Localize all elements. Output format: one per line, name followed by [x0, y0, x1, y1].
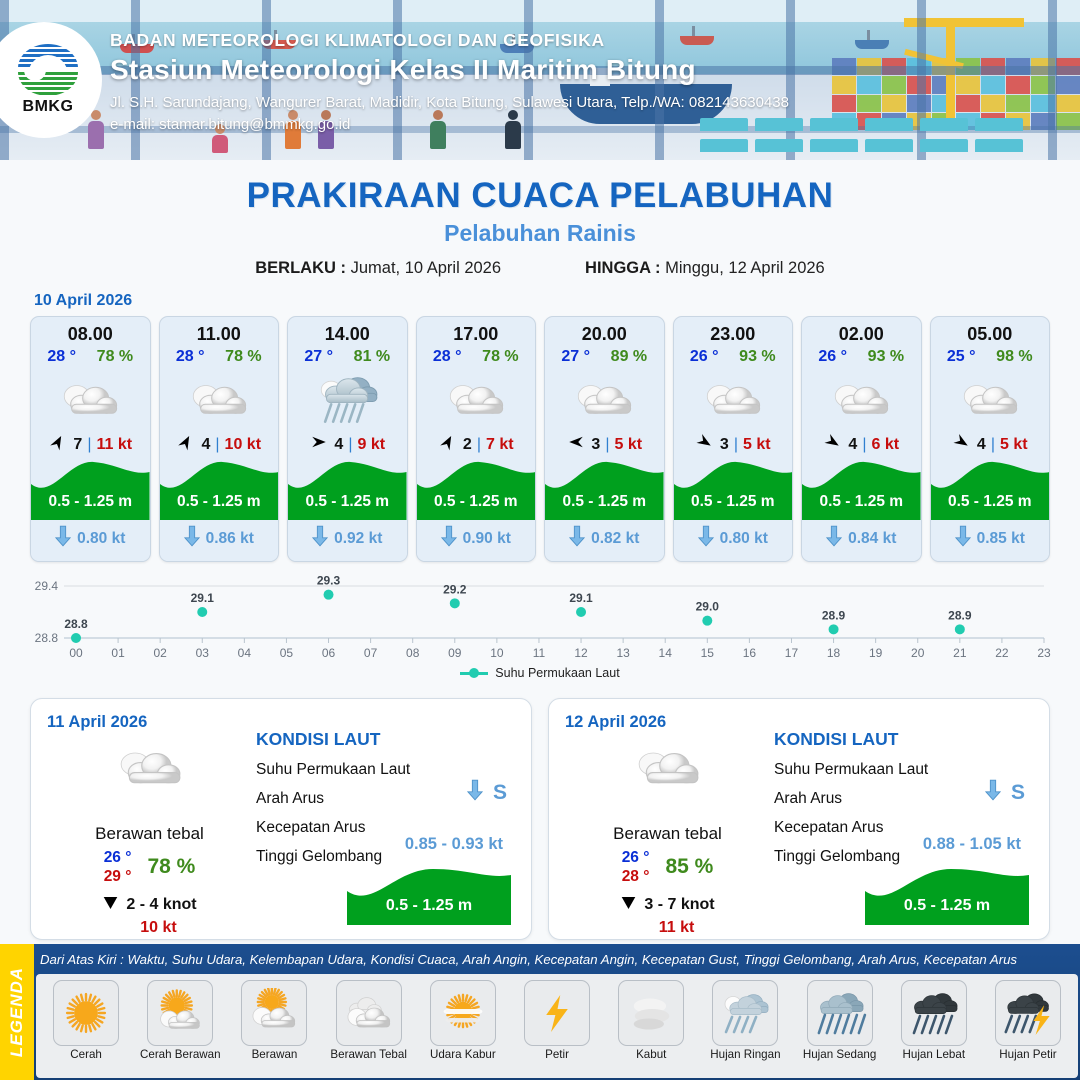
svg-text:23: 23 — [1037, 646, 1051, 660]
card-gust: 9 kt — [357, 436, 385, 454]
card-wind-speed: 4 — [848, 436, 857, 454]
wind-direction-arrow-icon — [952, 433, 972, 456]
card-current-row: 0.85 kt — [931, 520, 1050, 561]
card-current-speed: 0.92 kt — [334, 530, 382, 548]
current-direction-arrow-icon — [441, 525, 457, 552]
validity-row: BERLAKU : Jumat, 10 April 2026 HINGGA : … — [0, 259, 1080, 278]
daily-sea-conditions: KONDISI LAUT Suhu Permukaan Laut Arah Ar… — [770, 713, 1033, 927]
svg-text:18: 18 — [827, 646, 841, 660]
daily-left: 12 April 2026 Berawan tebal 26 ° 28 ° 85… — [565, 713, 770, 927]
svg-text:29.2: 29.2 — [443, 582, 467, 596]
daily-weather-cloudy-icon — [47, 738, 252, 796]
svg-text:06: 06 — [322, 646, 336, 660]
svg-text:21: 21 — [953, 646, 967, 660]
legend-item-label: Berawan Tebal — [330, 1048, 407, 1061]
current-direction-arrow-icon — [955, 525, 971, 552]
chart-legend-label: Suhu Permukaan Laut — [495, 666, 619, 680]
legend-item: Berawan Tebal — [322, 980, 416, 1061]
wind-separator: | — [862, 436, 866, 454]
svg-text:13: 13 — [616, 646, 630, 660]
daily-humidity: 78 % — [147, 855, 195, 879]
card-wave-height: 0.5 - 1.25 m — [674, 493, 793, 511]
card-wave-height: 0.5 - 1.25 m — [545, 493, 664, 511]
card-weather-cloudy-icon — [160, 368, 279, 430]
card-humidity: 93 % — [739, 348, 775, 366]
card-wave-block: 0.5 - 1.25 m — [674, 454, 793, 520]
daily-gust: 11 kt — [565, 919, 770, 937]
hourly-card: 20.00 27 ° 89 % 3 | 5 kt 0.5 - 1.25 m — [544, 316, 665, 562]
svg-text:17: 17 — [785, 646, 799, 660]
legend-item: Hujan Ringan — [698, 980, 792, 1061]
valid-from-label: BERLAKU : — [255, 259, 346, 277]
card-weather-cloudy-icon — [674, 368, 793, 430]
legend-item: Kabut — [604, 980, 698, 1061]
daily-left: 11 April 2026 Berawan tebal 26 ° 29 ° 78… — [47, 713, 252, 927]
page-title: PRAKIRAAN CUACA PELABUHAN — [0, 176, 1080, 216]
current-speed-value: 0.85 - 0.93 kt — [405, 835, 503, 854]
daily-forecast-row: 11 April 2026 Berawan tebal 26 ° 29 ° 78… — [0, 692, 1080, 940]
legend-item-label: Cerah Berawan — [140, 1048, 221, 1061]
sst-label: Suhu Permukaan Laut — [774, 761, 1033, 779]
svg-text:28.8: 28.8 — [64, 617, 88, 631]
hourly-card: 14.00 27 ° 81 % 4 | 9 kt — [287, 316, 408, 562]
card-weather-rain-icon — [288, 368, 407, 430]
daily-temp-min: 26 ° — [622, 848, 650, 867]
station-email: e-mail: stamar.bitung@bmmkg.go.id — [110, 116, 789, 133]
card-wind-speed: 4 — [201, 436, 210, 454]
svg-text:02: 02 — [153, 646, 167, 660]
daily-forecast-card: 12 April 2026 Berawan tebal 26 ° 28 ° 85… — [548, 698, 1050, 940]
svg-text:28.8: 28.8 — [35, 631, 59, 645]
daily-condition: Berawan tebal — [47, 824, 252, 844]
wind-direction-down-arrow-icon — [620, 895, 637, 916]
wind-direction-arrow-icon — [438, 433, 458, 456]
wind-separator: | — [605, 436, 609, 454]
card-wave-block: 0.5 - 1.25 m — [160, 454, 279, 520]
card-gust: 10 kt — [225, 436, 261, 454]
card-wind-speed: 3 — [591, 436, 600, 454]
card-wave-height: 0.5 - 1.25 m — [31, 493, 150, 511]
current-direction-arrow-icon — [569, 525, 585, 552]
card-wind-speed: 2 — [463, 436, 472, 454]
svg-text:28.9: 28.9 — [948, 608, 972, 622]
card-wave-block: 0.5 - 1.25 m — [931, 454, 1050, 520]
daily-temp-row: 26 ° 29 ° 78 % — [47, 848, 252, 887]
legend-rain-moderate-icon — [807, 980, 873, 1046]
legend-sun-icon — [53, 980, 119, 1046]
daily-wave-height: 0.5 - 1.25 m — [865, 897, 1029, 915]
card-wave-block: 0.5 - 1.25 m — [288, 454, 407, 520]
legend-item-label: Udara Kabur — [430, 1048, 496, 1061]
hourly-card: 11.00 28 ° 78 % 4 | 10 kt 0.5 - 1.25 m — [159, 316, 280, 562]
card-gust: 6 kt — [871, 436, 899, 454]
card-wave-block: 0.5 - 1.25 m — [417, 454, 536, 520]
card-wind-speed: 4 — [977, 436, 986, 454]
card-wave-height: 0.5 - 1.25 m — [288, 493, 407, 511]
legend-item-label: Hujan Ringan — [710, 1048, 780, 1061]
legend-clouds-icon — [336, 980, 402, 1046]
card-time: 05.00 — [931, 317, 1050, 347]
legend-item: Cerah Berawan — [133, 980, 227, 1061]
card-wave-height: 0.5 - 1.25 m — [417, 493, 536, 511]
legend-haze-icon — [430, 980, 496, 1046]
current-speed-value: 0.88 - 1.05 kt — [923, 835, 1021, 854]
wind-separator: | — [991, 436, 995, 454]
card-wave-height: 0.5 - 1.25 m — [802, 493, 921, 511]
card-temperature: 27 ° — [304, 348, 333, 366]
card-current-speed: 0.80 kt — [720, 530, 768, 548]
current-direction-value: S — [1011, 781, 1025, 805]
card-temperature: 28 ° — [433, 348, 462, 366]
card-wave-height: 0.5 - 1.25 m — [160, 493, 279, 511]
valid-until: HINGGA : Minggu, 12 April 2026 — [585, 259, 825, 278]
card-time: 23.00 — [674, 317, 793, 347]
wind-separator: | — [477, 436, 481, 454]
daily-sea-conditions: KONDISI LAUT Suhu Permukaan Laut Arah Ar… — [252, 713, 515, 927]
daily-wind-row: 3 - 7 knot — [565, 895, 770, 916]
svg-text:04: 04 — [238, 646, 252, 660]
wind-direction-arrow-icon — [176, 433, 196, 456]
daily-humidity: 85 % — [665, 855, 713, 879]
card-humidity: 98 % — [996, 348, 1032, 366]
page-header: BMKG BADAN METEOROLOGI KLIMATOLOGI DAN G… — [0, 0, 1080, 160]
card-time: 14.00 — [288, 317, 407, 347]
bmkg-logo-text: BMKG — [23, 98, 74, 116]
card-humidity: 89 % — [611, 348, 647, 366]
card-weather-cloudy-icon — [545, 368, 664, 430]
card-current-speed: 0.85 kt — [977, 530, 1025, 548]
wind-direction-arrow-icon — [695, 433, 715, 456]
valid-from-value: Jumat, 10 April 2026 — [351, 259, 501, 277]
daily-wind-speed: 2 - 4 knot — [126, 896, 196, 914]
svg-text:01: 01 — [111, 646, 125, 660]
card-wind-speed: 7 — [73, 436, 82, 454]
legend-section: LEGENDA Dari Atas Kiri : Waktu, Suhu Uda… — [0, 944, 1080, 1080]
svg-text:09: 09 — [448, 646, 462, 660]
chart-legend: Suhu Permukaan Laut — [24, 666, 1056, 680]
card-current-speed: 0.80 kt — [77, 530, 125, 548]
current-direction-arrow-icon — [467, 779, 483, 806]
wind-separator: | — [87, 436, 91, 454]
card-wind-speed: 4 — [334, 436, 343, 454]
svg-text:29.1: 29.1 — [191, 591, 215, 605]
card-current-speed: 0.82 kt — [591, 530, 639, 548]
card-wave-block: 0.5 - 1.25 m — [31, 454, 150, 520]
svg-text:07: 07 — [364, 646, 378, 660]
sst-chart: 29.428.800010203040506070809101112131415… — [24, 572, 1056, 692]
card-wave-height: 0.5 - 1.25 m — [931, 493, 1050, 511]
svg-text:28.9: 28.9 — [822, 608, 846, 622]
svg-text:19: 19 — [869, 646, 883, 660]
card-current-row: 0.90 kt — [417, 520, 536, 561]
wind-direction-arrow-icon — [48, 433, 68, 456]
svg-text:11: 11 — [533, 646, 546, 660]
daily-gust: 10 kt — [47, 919, 252, 937]
svg-text:29.1: 29.1 — [569, 591, 593, 605]
card-humidity: 78 % — [482, 348, 518, 366]
daily-date: 12 April 2026 — [565, 713, 770, 732]
daily-temp-row: 26 ° 28 ° 85 % — [565, 848, 770, 887]
card-current-row: 0.92 kt — [288, 520, 407, 561]
card-time: 08.00 — [31, 317, 150, 347]
svg-text:22: 22 — [995, 646, 1009, 660]
legend-item: Berawan — [227, 980, 321, 1061]
hourly-forecast-row: 08.00 28 ° 78 % 7 | 11 kt 0.5 - 1.25 m — [0, 316, 1080, 562]
hourly-card: 23.00 26 ° 93 % 3 | 5 kt 0.5 - 1.25 m — [673, 316, 794, 562]
card-current-speed: 0.84 kt — [848, 530, 896, 548]
legend-rain-heavy-icon — [901, 980, 967, 1046]
daily-temp-min: 26 ° — [104, 848, 132, 867]
legend-note: Dari Atas Kiri : Waktu, Suhu Udara, Kele… — [40, 952, 1074, 967]
card-gust: 7 kt — [486, 436, 514, 454]
svg-text:03: 03 — [196, 646, 210, 660]
svg-text:29.4: 29.4 — [35, 579, 59, 593]
valid-until-label: HINGGA : — [585, 259, 660, 277]
current-direction-arrow-icon — [826, 525, 842, 552]
wind-direction-down-arrow-icon — [102, 895, 119, 916]
agency-name: BADAN METEOROLOGI KLIMATOLOGI DAN GEOFIS… — [110, 30, 789, 51]
card-current-row: 0.80 kt — [31, 520, 150, 561]
daily-forecast-card: 11 April 2026 Berawan tebal 26 ° 29 ° 78… — [30, 698, 532, 940]
wind-direction-arrow-icon — [309, 433, 329, 456]
current-direction-arrow-icon — [55, 525, 71, 552]
legend-item: Petir — [510, 980, 604, 1061]
current-direction-arrow-icon — [184, 525, 200, 552]
legend-item: Cerah — [39, 980, 133, 1061]
card-humidity: 78 % — [225, 348, 261, 366]
card-wave-block: 0.5 - 1.25 m — [802, 454, 921, 520]
legend-rain-light-icon — [712, 980, 778, 1046]
wind-direction-arrow-icon — [566, 433, 586, 456]
legend-item-label: Cerah — [70, 1048, 102, 1061]
current-direction-arrow-icon — [698, 525, 714, 552]
card-gust: 5 kt — [1000, 436, 1028, 454]
daily-weather-cloudy-icon — [565, 738, 770, 796]
daily-temp-max: 29 ° — [104, 867, 132, 886]
card-gust: 5 kt — [614, 436, 642, 454]
daily-wind-speed: 3 - 7 knot — [644, 896, 714, 914]
legend-cloud-sun-icon — [241, 980, 307, 1046]
hourly-card: 08.00 28 ° 78 % 7 | 11 kt 0.5 - 1.25 m — [30, 316, 151, 562]
hourly-date-label: 10 April 2026 — [34, 292, 1080, 310]
svg-text:00: 00 — [69, 646, 83, 660]
card-time: 02.00 — [802, 317, 921, 347]
daily-temp-max: 28 ° — [622, 867, 650, 886]
card-gust: 5 kt — [743, 436, 771, 454]
legend-item-label: Kabut — [636, 1048, 666, 1061]
card-temperature: 28 ° — [176, 348, 205, 366]
current-direction-arrow-icon — [985, 779, 1001, 806]
current-direction-value-row: S — [467, 779, 507, 806]
wind-direction-arrow-icon — [823, 433, 843, 456]
page-title-block: PRAKIRAAN CUACA PELABUHAN Pelabuhan Rain… — [0, 176, 1080, 278]
wind-separator: | — [215, 436, 219, 454]
svg-text:12: 12 — [574, 646, 588, 660]
card-temperature: 25 ° — [947, 348, 976, 366]
legend-side-bar: LEGENDA — [0, 944, 34, 1080]
daily-wave-block: 0.5 - 1.25 m — [865, 865, 1029, 925]
card-weather-cloudy-icon — [931, 368, 1050, 430]
card-wind-speed: 3 — [720, 436, 729, 454]
legend-item-label: Petir — [545, 1048, 569, 1061]
legend-sun-cloud-icon — [147, 980, 213, 1046]
card-gust: 11 kt — [96, 436, 132, 454]
card-current-row: 0.80 kt — [674, 520, 793, 561]
hourly-card: 17.00 28 ° 78 % 2 | 7 kt 0.5 - 1.25 m — [416, 316, 537, 562]
legend-fog-icon — [618, 980, 684, 1046]
svg-text:05: 05 — [280, 646, 294, 660]
sst-label: Suhu Permukaan Laut — [256, 761, 515, 779]
current-direction-value: S — [493, 781, 507, 805]
hourly-card: 02.00 26 ° 93 % 4 | 6 kt 0.5 - 1.25 m — [801, 316, 922, 562]
daily-date: 11 April 2026 — [47, 713, 252, 732]
station-address: Jl. S.H. Sarundajang, Wangurer Barat, Ma… — [110, 94, 789, 111]
legend-item: Hujan Petir — [981, 980, 1075, 1061]
legend-lightning-icon — [524, 980, 590, 1046]
card-current-speed: 0.86 kt — [206, 530, 254, 548]
card-current-row: 0.86 kt — [160, 520, 279, 561]
legend-item-label: Berawan — [252, 1048, 298, 1061]
daily-wave-block: 0.5 - 1.25 m — [347, 865, 511, 925]
current-direction-arrow-icon — [312, 525, 328, 552]
legend-rain-thunder-icon — [995, 980, 1061, 1046]
daily-condition: Berawan tebal — [565, 824, 770, 844]
card-weather-cloudy-icon — [802, 368, 921, 430]
legend-item: Hujan Lebat — [887, 980, 981, 1061]
svg-text:15: 15 — [701, 646, 715, 660]
svg-text:20: 20 — [911, 646, 925, 660]
valid-until-value: Minggu, 12 April 2026 — [665, 259, 825, 277]
wind-separator: | — [348, 436, 352, 454]
legend-item-label: Hujan Petir — [999, 1048, 1056, 1061]
bmkg-emblem-icon — [18, 44, 78, 96]
chart-legend-marker-icon — [460, 668, 488, 678]
card-wave-block: 0.5 - 1.25 m — [545, 454, 664, 520]
svg-text:29.0: 29.0 — [696, 600, 720, 614]
legend-item-label: Hujan Lebat — [903, 1048, 966, 1061]
legend-item: Udara Kabur — [416, 980, 510, 1061]
card-time: 17.00 — [417, 317, 536, 347]
card-weather-cloudy-icon — [31, 368, 150, 430]
card-current-speed: 0.90 kt — [463, 530, 511, 548]
card-temperature: 26 ° — [690, 348, 719, 366]
svg-text:10: 10 — [490, 646, 504, 660]
svg-text:08: 08 — [406, 646, 420, 660]
svg-text:29.3: 29.3 — [317, 574, 341, 588]
daily-wave-height: 0.5 - 1.25 m — [347, 897, 511, 915]
card-current-row: 0.82 kt — [545, 520, 664, 561]
sea-conditions-title: KONDISI LAUT — [256, 729, 515, 750]
card-time: 20.00 — [545, 317, 664, 347]
port-name: Pelabuhan Rainis — [0, 220, 1080, 247]
daily-wind-row: 2 - 4 knot — [47, 895, 252, 916]
wind-separator: | — [734, 436, 738, 454]
card-temperature: 28 ° — [47, 348, 76, 366]
legend-side-title: LEGENDA — [7, 967, 27, 1057]
sea-conditions-title: KONDISI LAUT — [774, 729, 1033, 750]
card-humidity: 78 % — [97, 348, 133, 366]
card-temperature: 26 ° — [818, 348, 847, 366]
svg-text:14: 14 — [659, 646, 673, 660]
hourly-card: 05.00 25 ° 98 % 4 | 5 kt 0.5 - 1.25 m — [930, 316, 1051, 562]
card-humidity: 81 % — [354, 348, 390, 366]
legend-icon-row: Cerah Cerah Berawan Berawan — [36, 974, 1078, 1078]
legend-item-label: Hujan Sedang — [803, 1048, 877, 1061]
card-current-row: 0.84 kt — [802, 520, 921, 561]
card-weather-cloudy-icon — [417, 368, 536, 430]
svg-text:16: 16 — [743, 646, 757, 660]
legend-item: Hujan Sedang — [793, 980, 887, 1061]
card-temperature: 27 ° — [561, 348, 590, 366]
card-humidity: 93 % — [868, 348, 904, 366]
station-name: Stasiun Meteorologi Kelas II Maritim Bit… — [110, 54, 789, 86]
current-direction-value-row: S — [985, 779, 1025, 806]
valid-from: BERLAKU : Jumat, 10 April 2026 — [255, 259, 501, 278]
card-time: 11.00 — [160, 317, 279, 347]
